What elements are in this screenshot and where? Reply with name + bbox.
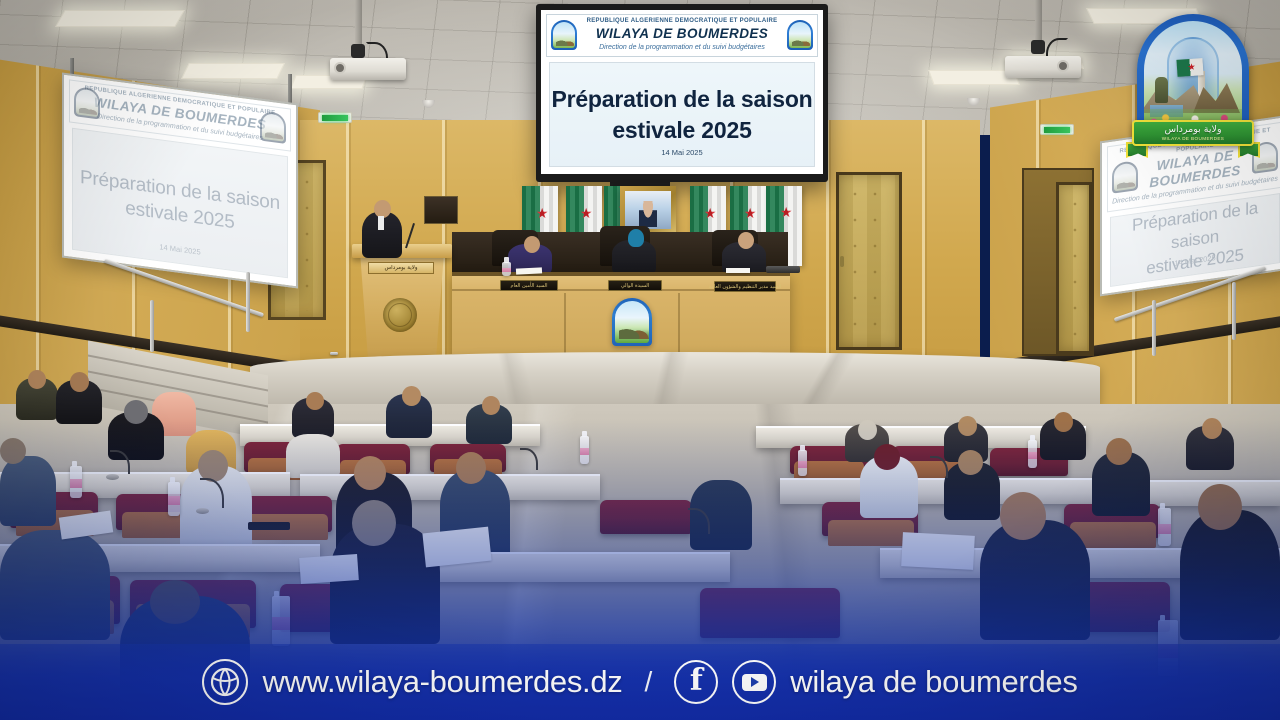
attendee [1180, 510, 1280, 640]
water-bottle [1158, 508, 1171, 546]
attendee-head [306, 392, 324, 410]
slide-title-line1: Préparation de la saison [551, 86, 812, 112]
door-right-rear[interactable] [1056, 182, 1092, 354]
attendee-head [1202, 418, 1222, 439]
water-bottle [502, 262, 511, 276]
wilaya-boumerdes-logo: ★ ولاية بومرداس WILAYA DE BOUMERDES [1128, 6, 1258, 164]
desk-microphone-base [106, 474, 119, 480]
attendee-head [1000, 492, 1046, 540]
attendee-head [28, 370, 46, 389]
audience-seat-back [828, 520, 914, 546]
nameplate-right: السيد مدير التنظيم والشؤون العامة [714, 281, 776, 292]
door-left-rear[interactable] [836, 172, 902, 350]
wall-speaker [424, 196, 458, 224]
water-bottle [580, 436, 589, 464]
document-sheet [901, 532, 975, 570]
attendee-head [352, 500, 396, 546]
logo-scene-illustration: ★ [1144, 21, 1242, 131]
attendee [0, 456, 56, 526]
slide-date: 14 Mai 2025 [550, 148, 814, 157]
water-bottle [798, 450, 807, 476]
slide-header-line1: REPUBLIQUE ALGERIENNE DEMOCRATIQUE ET PO… [587, 18, 778, 25]
attendee-head [0, 438, 26, 464]
globe-icon [202, 659, 248, 705]
exit-sign-right [1040, 124, 1074, 135]
attendee-head [1106, 438, 1132, 465]
attendee-head [70, 372, 89, 392]
exit-sign-left [318, 112, 352, 123]
facebook-icon[interactable]: f [674, 660, 718, 704]
water-bottle [1028, 440, 1037, 468]
projection-screen-left: REPUBLIQUE ALGERIENNE DEMOCRATIQUE ET PO… [62, 72, 298, 288]
official-right-head [738, 232, 754, 249]
attendee-head [150, 580, 200, 624]
nameplate-right-text: السيد مدير التنظيم والشؤون العامة [709, 284, 782, 290]
logo-ribbon: ولاية بومرداس WILAYA DE BOUMERDES [1132, 120, 1254, 146]
wilaya-emblem-icon [787, 20, 813, 50]
audience-desk [780, 478, 1100, 504]
main-display-screen: REPUBLIQUE ALGERIENNE DEMOCRATIQUE ET PO… [541, 10, 823, 174]
slide-header: REPUBLIQUE ALGERIENNE DEMOCRATIQUE ET PO… [546, 14, 818, 57]
youtube-icon[interactable] [732, 660, 776, 704]
slide-main: REPUBLIQUE ALGERIENNE DEMOCRATIQUE ET PO… [541, 10, 823, 174]
audience-seat [600, 500, 692, 534]
slide-title-line2: estivale 2025 [612, 117, 751, 143]
railing-post [150, 300, 154, 352]
nameplate-left: السيد الأمين العام [500, 280, 558, 291]
podium-plaque: ولاية بومرداس [368, 262, 434, 274]
podium-plaque-text: ولاية بومرداس [384, 265, 417, 271]
wilaya-emblem-icon [551, 20, 577, 50]
attendee [0, 530, 110, 640]
slide-body: Préparation de la saison estivale 2025 1… [549, 62, 815, 167]
attendee-head [874, 444, 900, 470]
desk-wilaya-emblem-icon [612, 298, 652, 346]
attendee-headscarf [286, 434, 340, 478]
water-bottle [272, 596, 290, 646]
logo-latin-name: WILAYA DE BOUMERDES [1162, 136, 1225, 141]
slide-header-line2: WILAYA DE BOUMERDES [587, 26, 778, 42]
main-display: REPUBLIQUE ALGERIENNE DEMOCRATIQUE ET PO… [536, 4, 828, 182]
attendee-head [402, 386, 421, 406]
attendee-head [456, 452, 486, 484]
ceiling-light [55, 10, 185, 27]
desk-microphone-base [196, 508, 209, 514]
railing-post [1232, 282, 1236, 340]
attendee-head [482, 396, 500, 415]
document-sheet [422, 527, 491, 568]
nameplate-center: السيدة الوالي [608, 280, 662, 291]
water-bottle [70, 466, 82, 498]
laptop [766, 266, 800, 273]
attendee [980, 520, 1090, 640]
attendee-head [958, 416, 977, 436]
official-center-head [628, 229, 644, 247]
attendee-head [858, 420, 877, 440]
document-sheet [299, 554, 359, 584]
attendee-head [1198, 484, 1242, 530]
nameplate-left-text: السيد الأمين العام [510, 283, 547, 289]
door-knob[interactable] [840, 256, 844, 267]
attendee-head [958, 450, 983, 475]
logo-arabic-name: ولاية بومرداس [1164, 125, 1221, 135]
ceiling-light [181, 63, 285, 79]
screenshot-root: REPUBLIQUE ALGERIENNE DEMOCRATIQUE ET PO… [0, 0, 1280, 720]
document [726, 268, 750, 273]
bottom-banner: www.wilaya-boumerdes.dz / f wilaya de bo… [0, 644, 1280, 720]
social-handle[interactable]: wilaya de boumerdes [790, 664, 1077, 700]
banner-separator: / [645, 666, 653, 698]
railing-post [246, 272, 250, 332]
attendee-head [124, 400, 148, 424]
slide-left: REPUBLIQUE ALGERIENNE DEMOCRATIQUE ET PO… [64, 75, 296, 287]
attendee-head [354, 456, 386, 490]
stage-platform-edge [250, 352, 1100, 404]
wilaya-emblem-icon [260, 111, 286, 144]
water-bottle [168, 482, 180, 516]
railing-post [1152, 300, 1156, 356]
nameplate-center-text: السيدة الوالي [621, 283, 649, 289]
audience-seat [700, 588, 840, 638]
official-left-head [524, 236, 540, 253]
speaker-shirt [378, 216, 384, 230]
slide-header-line3: Direction de la programmation et du suiv… [587, 44, 778, 52]
smartphone [248, 522, 290, 530]
website-url[interactable]: www.wilaya-boumerdes.dz [262, 664, 622, 700]
attendee-head [1054, 412, 1073, 432]
slide-body: Préparation de la saison estivale 2025 1… [72, 128, 288, 278]
podium-seal-icon [383, 298, 417, 332]
railing-segment [330, 352, 338, 355]
